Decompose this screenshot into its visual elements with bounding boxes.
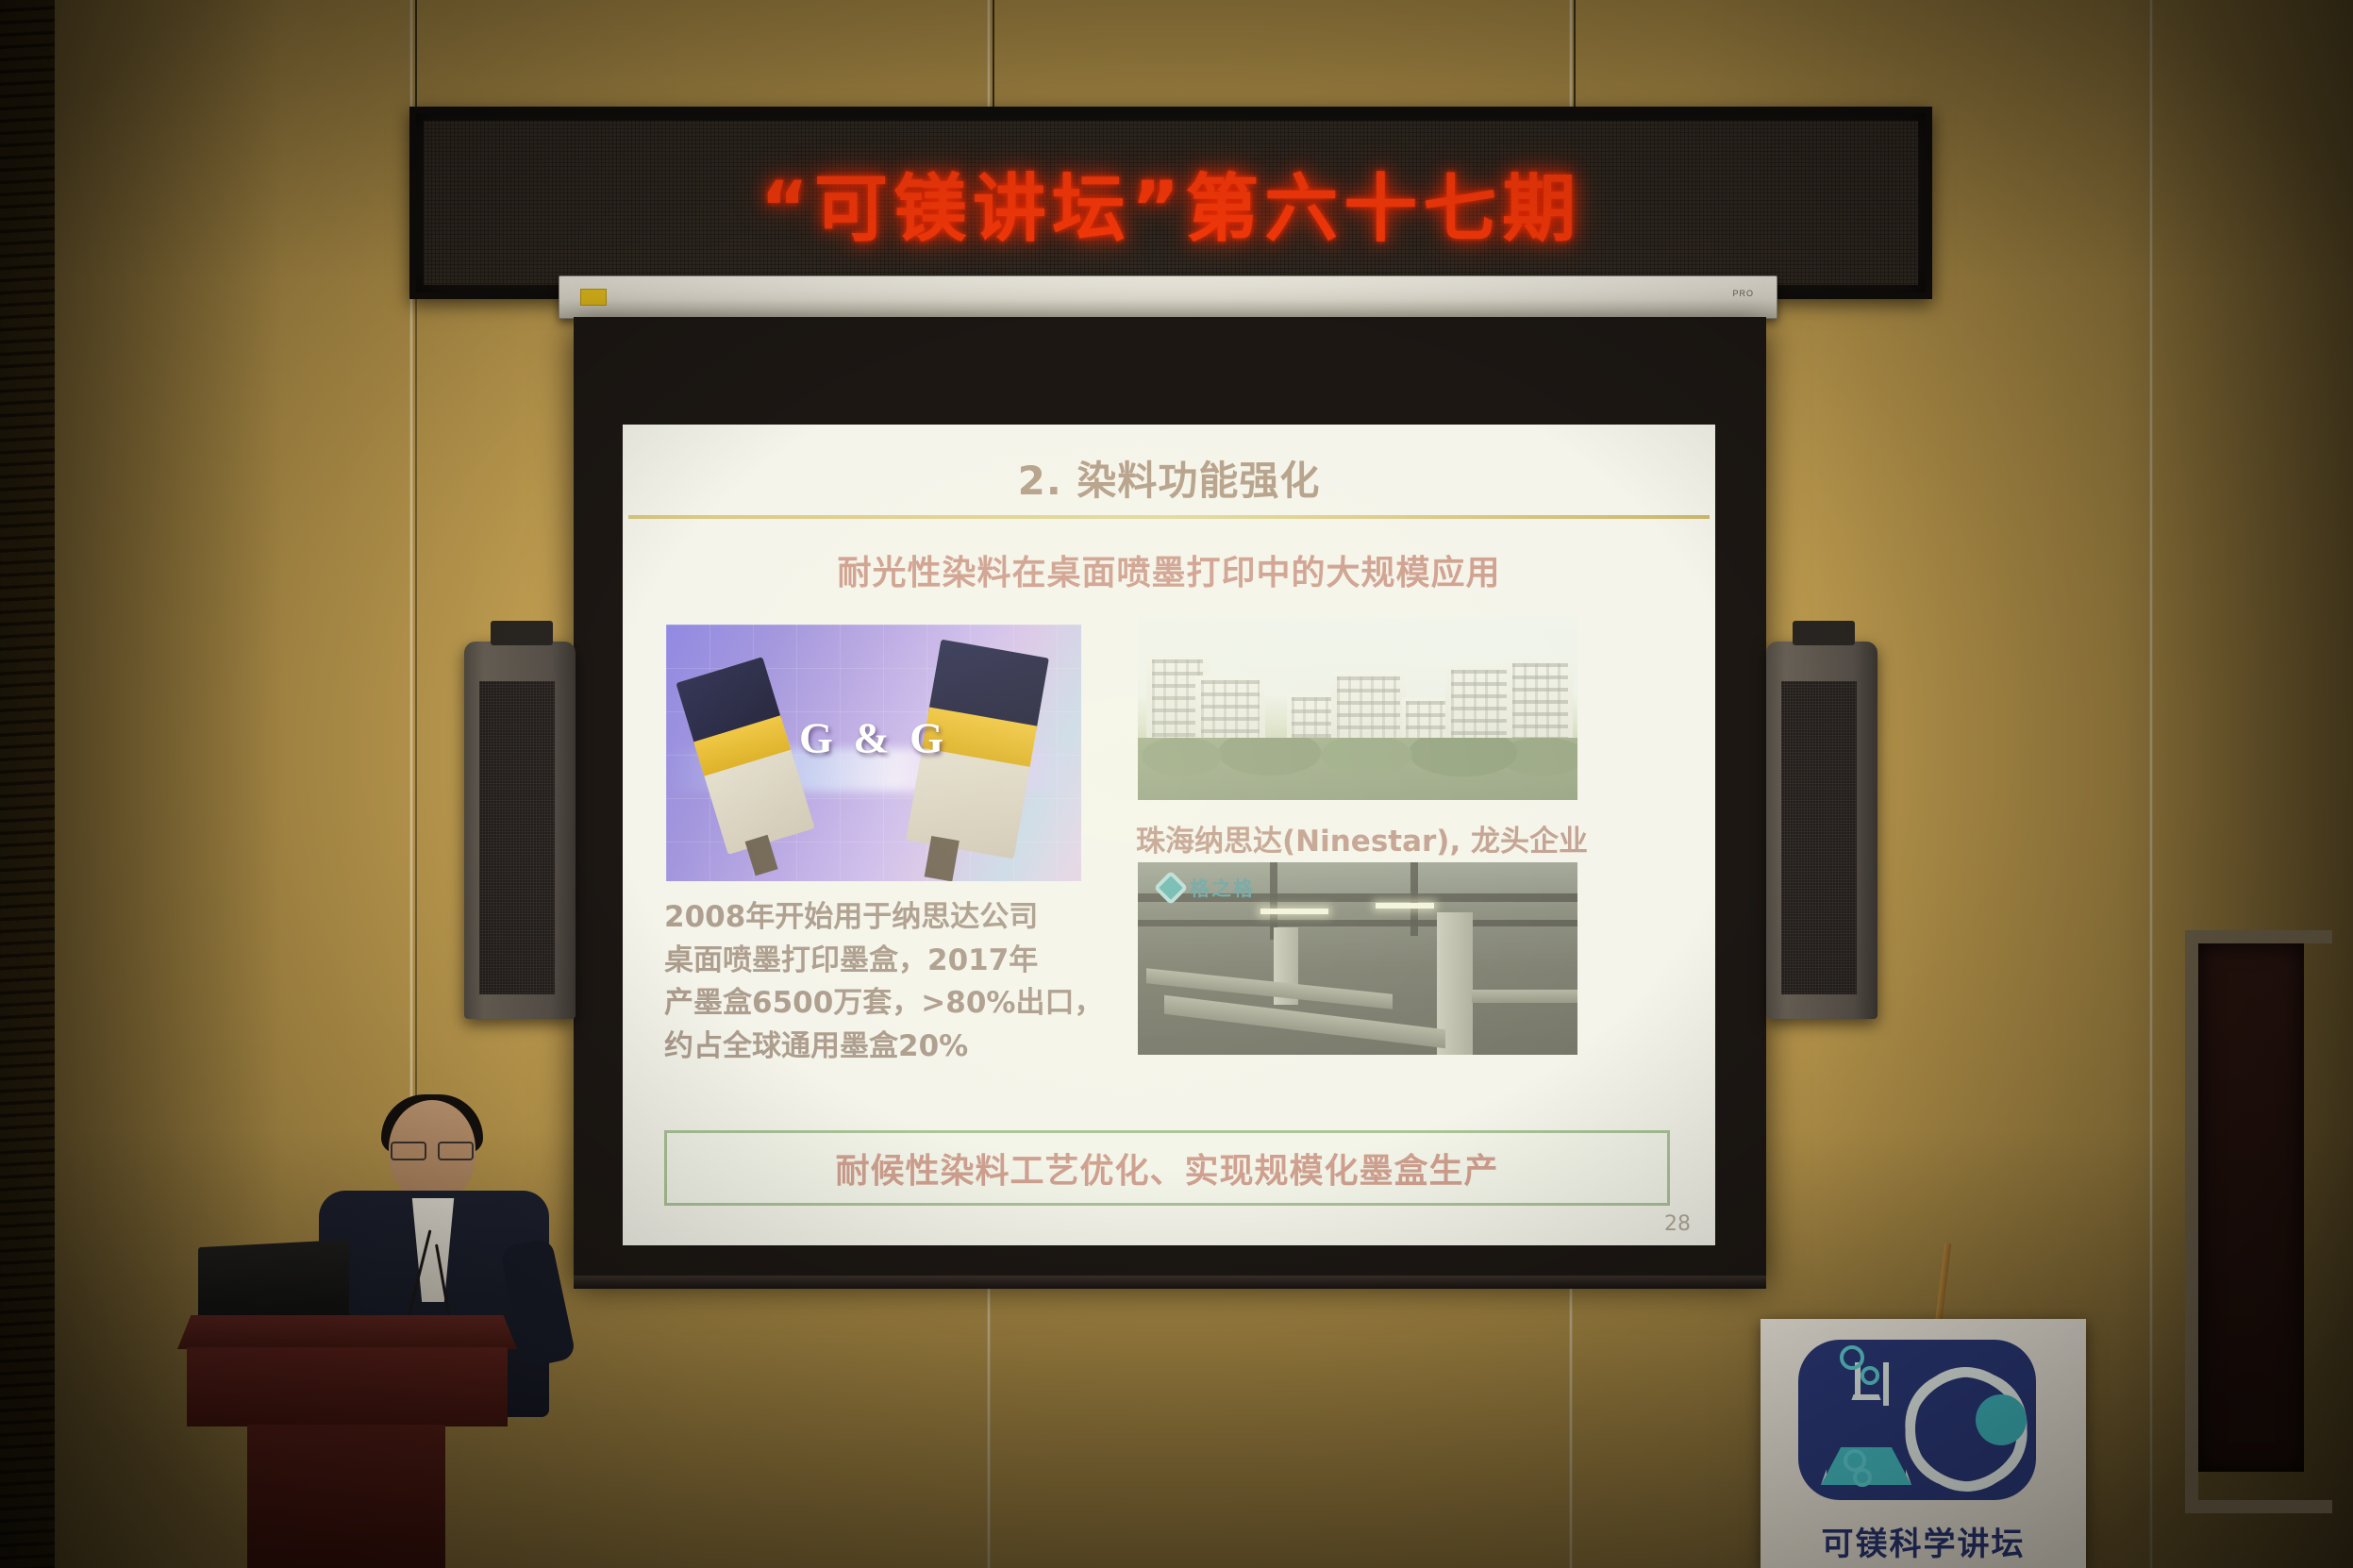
lectern-top xyxy=(177,1315,517,1349)
speaker-bracket xyxy=(1793,621,1855,645)
bubble-icon xyxy=(1840,1345,1864,1370)
slide-subtitle: 耐光性染料在桌面喷墨打印中的大规模应用 xyxy=(623,545,1715,594)
lectern-face xyxy=(187,1347,508,1426)
speaker-grille xyxy=(479,681,555,994)
body-line: 约占全球通用墨盒20% xyxy=(664,1026,1108,1069)
speaker-grille xyxy=(1781,681,1857,994)
production-line-image: 格之格 xyxy=(1138,862,1577,1055)
hanging-wire xyxy=(1574,0,1576,111)
bubble-icon xyxy=(1861,1366,1879,1385)
hanging-wire xyxy=(415,0,417,111)
led-banner-text: “可镁讲坛”第六十七期 xyxy=(760,150,1582,256)
wall-speaker-left xyxy=(464,642,576,1019)
led-banner-screen: “可镁讲坛”第六十七期 xyxy=(424,121,1918,285)
body-line: 产墨盒6500万套，>80%出口， xyxy=(664,982,1108,1026)
projection-screen: 2. 染料功能强化 耐光性染料在桌面喷墨打印中的大规模应用 G & G xyxy=(574,317,1766,1277)
event-poster: 可镁科学讲坛 xyxy=(1761,1319,2086,1568)
wall-panel-joint xyxy=(2149,0,2153,1568)
poster-title: 可镁科学讲坛 xyxy=(1761,1518,2086,1564)
title-divider-rule xyxy=(628,515,1710,519)
glasses-icon xyxy=(391,1142,474,1157)
projected-slide: 2. 染料功能强化 耐光性染料在桌面喷墨打印中的大规模应用 G & G xyxy=(623,425,1715,1245)
atom-nucleus xyxy=(1976,1394,2027,1445)
wall-speaker-right xyxy=(1766,642,1877,1019)
projection-washout xyxy=(1138,617,1577,800)
slide-body-text: 2008年开始用于纳思达公司 桌面喷墨打印墨盒，2017年 产墨盒6500万套，… xyxy=(664,896,1108,1068)
casing-label-sticker xyxy=(580,289,607,306)
gg-cartridge-image: G & G xyxy=(666,625,1081,881)
body-line: 2008年开始用于纳思达公司 xyxy=(664,896,1108,940)
factory-exterior-image xyxy=(1138,617,1577,800)
speaker-bracket xyxy=(491,621,553,645)
gg-brand-label: G & G xyxy=(799,712,948,762)
science-forum-logo xyxy=(1798,1340,2036,1500)
hanging-wire xyxy=(993,0,994,111)
casing-brand-mark: PRO xyxy=(1732,289,1754,298)
lectern xyxy=(177,1315,517,1568)
lectern-base xyxy=(247,1425,445,1568)
doorway xyxy=(2198,943,2304,1472)
factory-caption: 珠海纳思达(Ninestar), 龙头企业 xyxy=(1136,817,1588,859)
body-line: 桌面喷墨打印墨盒，2017年 xyxy=(664,940,1108,983)
wall-left-return xyxy=(0,0,55,1568)
atom-icon xyxy=(1891,1353,2030,1493)
conclusion-text: 耐候性染料工艺优化、实现规模化墨盒生产 xyxy=(835,1143,1498,1193)
bubble-icon xyxy=(1853,1468,1872,1487)
projector-screen-casing: PRO xyxy=(559,275,1777,319)
projection-washout xyxy=(1138,862,1577,1055)
led-banner: “可镁讲坛”第六十七期 xyxy=(409,107,1932,299)
conference-room-photo: “可镁讲坛”第六十七期 PRO 2. 染料功能强化 耐光性染料在桌面喷墨打印中的… xyxy=(0,0,2353,1568)
screen-bottom-bar xyxy=(574,1276,1766,1289)
slide-page-number: 28 xyxy=(1664,1212,1691,1236)
conclusion-box: 耐候性染料工艺优化、实现规模化墨盒生产 xyxy=(664,1130,1670,1206)
slide-title: 2. 染料功能强化 xyxy=(623,449,1715,507)
